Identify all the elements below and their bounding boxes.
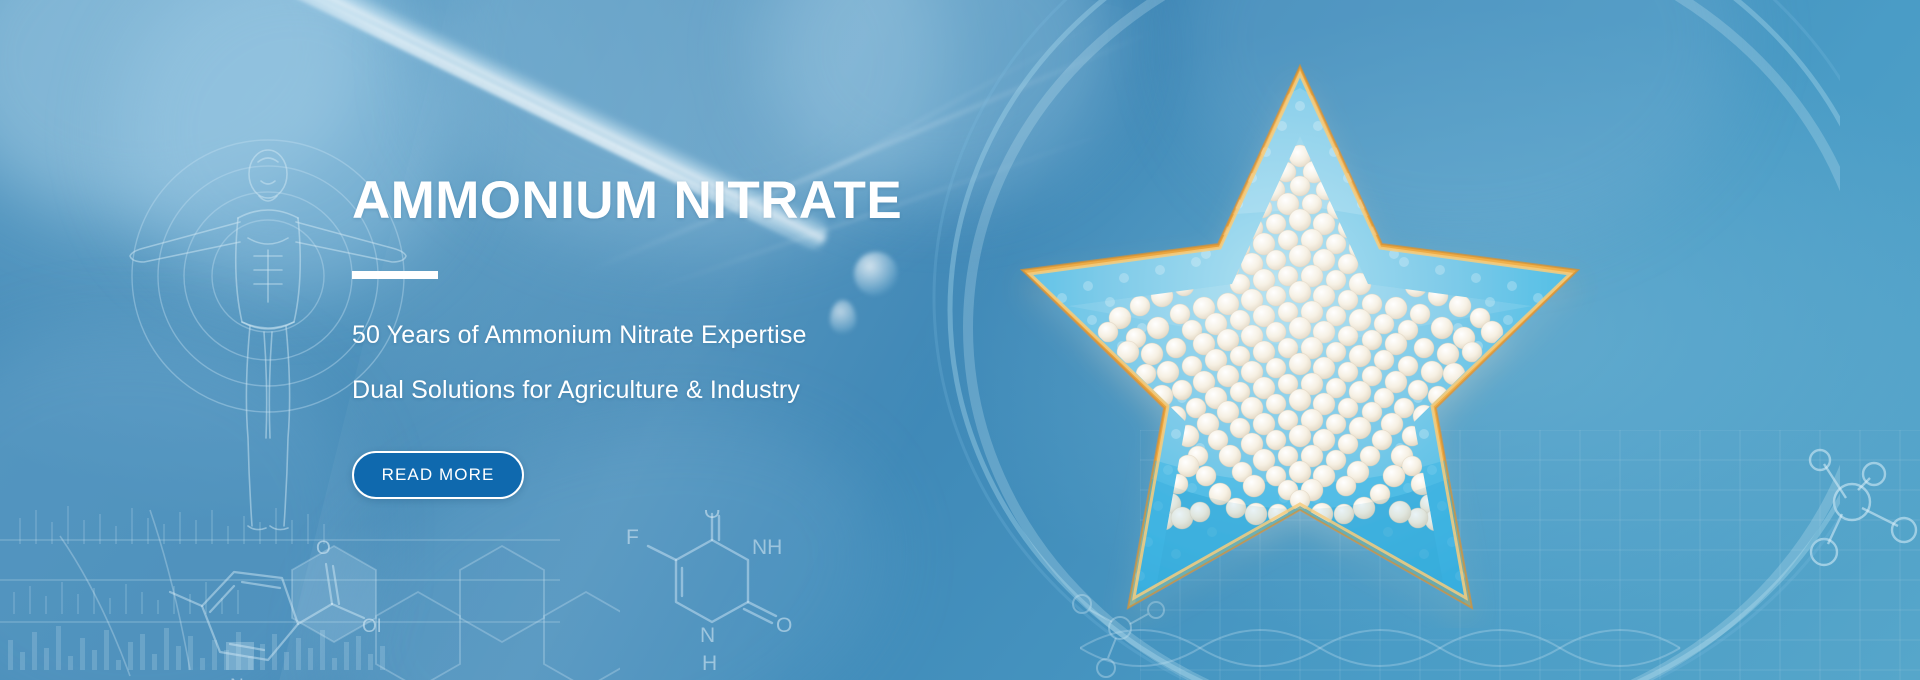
molecule-fluorouracil-icon: F O NH O N H	[600, 510, 840, 680]
product-image-star-dish	[1000, 48, 1600, 628]
molecule-label-O-top: O	[704, 510, 720, 523]
hero-banner: O OH N	[0, 0, 1920, 680]
star-dish-body	[1022, 66, 1578, 628]
molecule-label-O-right: O	[776, 614, 792, 637]
hexagon-lattice-icon	[280, 530, 620, 680]
molecule-label-F: F	[626, 526, 639, 549]
molecule-label-H: H	[702, 652, 717, 675]
title-divider	[352, 271, 438, 279]
subtitle-line-1: 50 Years of Ammonium Nitrate Expertise	[352, 323, 1072, 348]
subtitle-line-2: Dual Solutions for Agriculture & Industr…	[352, 378, 1072, 403]
molecule-label-N: N	[700, 624, 715, 647]
hero-content: AMMONIUM NITRATE 50 Years of Ammonium Ni…	[352, 174, 1072, 499]
molecule-label-NH: NH	[752, 536, 782, 559]
read-more-button[interactable]: READ MORE	[352, 451, 524, 499]
page-title: AMMONIUM NITRATE	[352, 174, 1072, 227]
